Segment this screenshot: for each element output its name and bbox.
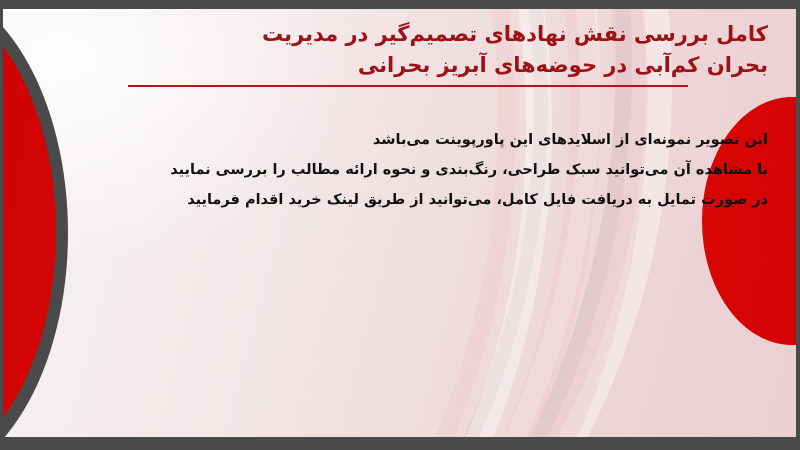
slide-frame-right [796,0,800,450]
slide-body-line-2: با مشاهده آن می‌توانید سبک طراحی، رنگ‌بن… [108,155,768,185]
slide-frame-left [0,0,3,450]
slide-frame-top [0,0,800,9]
slide-title: کامل بررسی نقش نهادهای تصمیم‌گیر در مدیر… [128,19,768,81]
presentation-slide: کامل بررسی نقش نهادهای تصمیم‌گیر در مدیر… [0,0,800,450]
slide-title-line-2: بحران کم‌آبی در حوضه‌های آبریز بحرانی [128,50,768,81]
slide-body-line-1: این تصویر نمونه‌ای از اسلایدهای این پاور… [108,125,768,155]
slide-body-text: این تصویر نمونه‌ای از اسلایدهای این پاور… [108,125,768,215]
slide-title-line-1: کامل بررسی نقش نهادهای تصمیم‌گیر در مدیر… [128,19,768,50]
slide-frame-bottom [0,437,800,450]
slide-body-line-3: در صورت تمایل به دریافت فایل کامل، می‌تو… [108,185,768,215]
title-underline-rule [128,85,688,87]
slide-canvas: کامل بررسی نقش نهادهای تصمیم‌گیر در مدیر… [0,9,796,437]
